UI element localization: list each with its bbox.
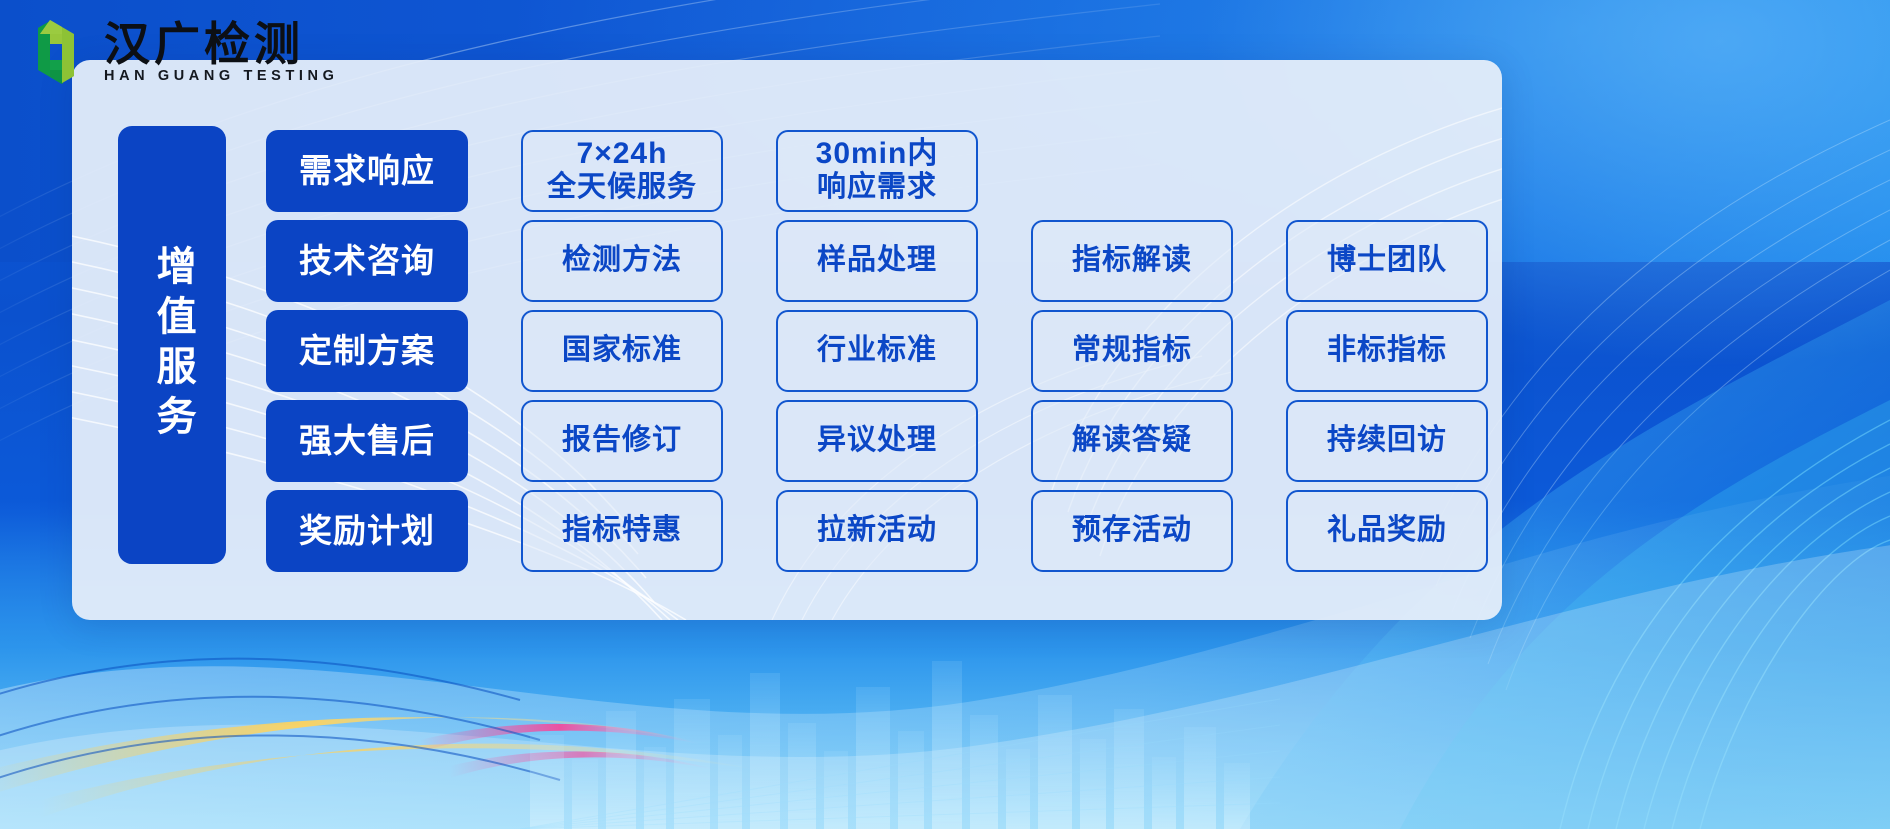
service-card-line1: 行业标准: [817, 334, 937, 367]
service-card-line1: 博士团队: [1327, 244, 1447, 277]
service-card-line1: 礼品奖励: [1327, 514, 1447, 547]
service-card-sample-handling[interactable]: 样品处理: [776, 220, 978, 302]
service-card-interpretation-qa[interactable]: 解读答疑: [1031, 400, 1233, 482]
service-card-doctoral-team[interactable]: 博士团队: [1286, 220, 1488, 302]
category-label: 强大售后: [299, 422, 435, 460]
value-added-services-panel: 增值服务 需求响应 7×24h 全天候服务 30min内 响应需求: [72, 60, 1502, 620]
service-card-gift-reward[interactable]: 礼品奖励: [1286, 490, 1488, 572]
category-label: 需求响应: [299, 152, 435, 190]
category-card-after-sales[interactable]: 强大售后: [266, 400, 468, 482]
service-card-line2: 全天候服务: [547, 171, 697, 204]
table-row: 定制方案 国家标准 行业标准 常规指标 非标指标: [266, 306, 1502, 395]
vertical-tab-value-added-services[interactable]: 增值服务: [118, 126, 226, 564]
service-card-line2: 响应需求: [817, 171, 937, 204]
service-card-testing-methods[interactable]: 检测方法: [521, 220, 723, 302]
service-card-indicator-interpretation[interactable]: 指标解读: [1031, 220, 1233, 302]
table-row: 奖励计划 指标特惠 拉新活动 预存活动 礼品奖励: [266, 486, 1502, 575]
table-row: 技术咨询 检测方法 样品处理 指标解读 博士团队: [266, 216, 1502, 305]
brand-name-cn: 汉广检测: [104, 21, 338, 67]
services-content: 增值服务 需求响应 7×24h 全天候服务 30min内 响应需求: [118, 126, 1502, 575]
category-card-technical-consulting[interactable]: 技术咨询: [266, 220, 468, 302]
services-rows: 需求响应 7×24h 全天候服务 30min内 响应需求: [266, 126, 1502, 575]
service-card-line1: 解读答疑: [1072, 424, 1192, 457]
service-card-follow-up-visits[interactable]: 持续回访: [1286, 400, 1488, 482]
category-label: 奖励计划: [299, 512, 435, 550]
city-skyline-decoration: [520, 639, 1280, 829]
poster-stage: 增值服务 需求响应 7×24h 全天候服务 30min内 响应需求: [0, 0, 1890, 829]
hanguang-h-logo-icon: [22, 14, 90, 90]
service-card-nonstandard-indicators[interactable]: 非标指标: [1286, 310, 1488, 392]
service-card-line1: 报告修订: [562, 424, 682, 457]
category-label: 技术咨询: [299, 242, 435, 280]
service-card-national-standards[interactable]: 国家标准: [521, 310, 723, 392]
category-card-custom-solutions[interactable]: 定制方案: [266, 310, 468, 392]
table-row: 需求响应 7×24h 全天候服务 30min内 响应需求: [266, 126, 1502, 215]
brand-logo-text: 汉广检测 HAN GUANG TESTING: [104, 21, 338, 84]
service-card-indicator-discount[interactable]: 指标特惠: [521, 490, 723, 572]
service-card-line1: 7×24h: [577, 137, 668, 171]
service-card-line1: 持续回访: [1327, 424, 1447, 457]
service-card-referral-campaign[interactable]: 拉新活动: [776, 490, 978, 572]
service-card-line1: 指标特惠: [562, 514, 682, 547]
service-card-industry-standards[interactable]: 行业标准: [776, 310, 978, 392]
category-card-demand-response[interactable]: 需求响应: [266, 130, 468, 212]
service-card-prepaid-campaign[interactable]: 预存活动: [1031, 490, 1233, 572]
table-row: 强大售后 报告修订 异议处理 解读答疑 持续回访: [266, 396, 1502, 485]
service-card-line1: 30min内: [816, 137, 939, 171]
service-card-line1: 预存活动: [1072, 514, 1192, 547]
service-card-30min[interactable]: 30min内 响应需求: [776, 130, 978, 212]
service-card-dispute-handling[interactable]: 异议处理: [776, 400, 978, 482]
category-card-reward-program[interactable]: 奖励计划: [266, 490, 468, 572]
empty-cell: [1234, 130, 1436, 212]
category-label: 定制方案: [299, 332, 435, 370]
empty-cell: [1031, 130, 1233, 212]
service-card-line1: 非标指标: [1327, 334, 1447, 367]
vertical-tab-label: 增值服务: [150, 245, 193, 445]
service-card-line1: 拉新活动: [817, 514, 937, 547]
service-card-7x24[interactable]: 7×24h 全天候服务: [521, 130, 723, 212]
service-card-report-revision[interactable]: 报告修订: [521, 400, 723, 482]
brand-name-en: HAN GUANG TESTING: [104, 69, 338, 84]
service-card-line1: 检测方法: [562, 244, 682, 277]
service-card-line1: 指标解读: [1072, 244, 1192, 277]
service-card-routine-indicators[interactable]: 常规指标: [1031, 310, 1233, 392]
service-card-line1: 异议处理: [817, 424, 937, 457]
service-card-line1: 常规指标: [1072, 334, 1192, 367]
service-card-line1: 样品处理: [817, 244, 937, 277]
service-card-line1: 国家标准: [562, 334, 682, 367]
brand-logo: 汉广检测 HAN GUANG TESTING: [22, 14, 338, 90]
